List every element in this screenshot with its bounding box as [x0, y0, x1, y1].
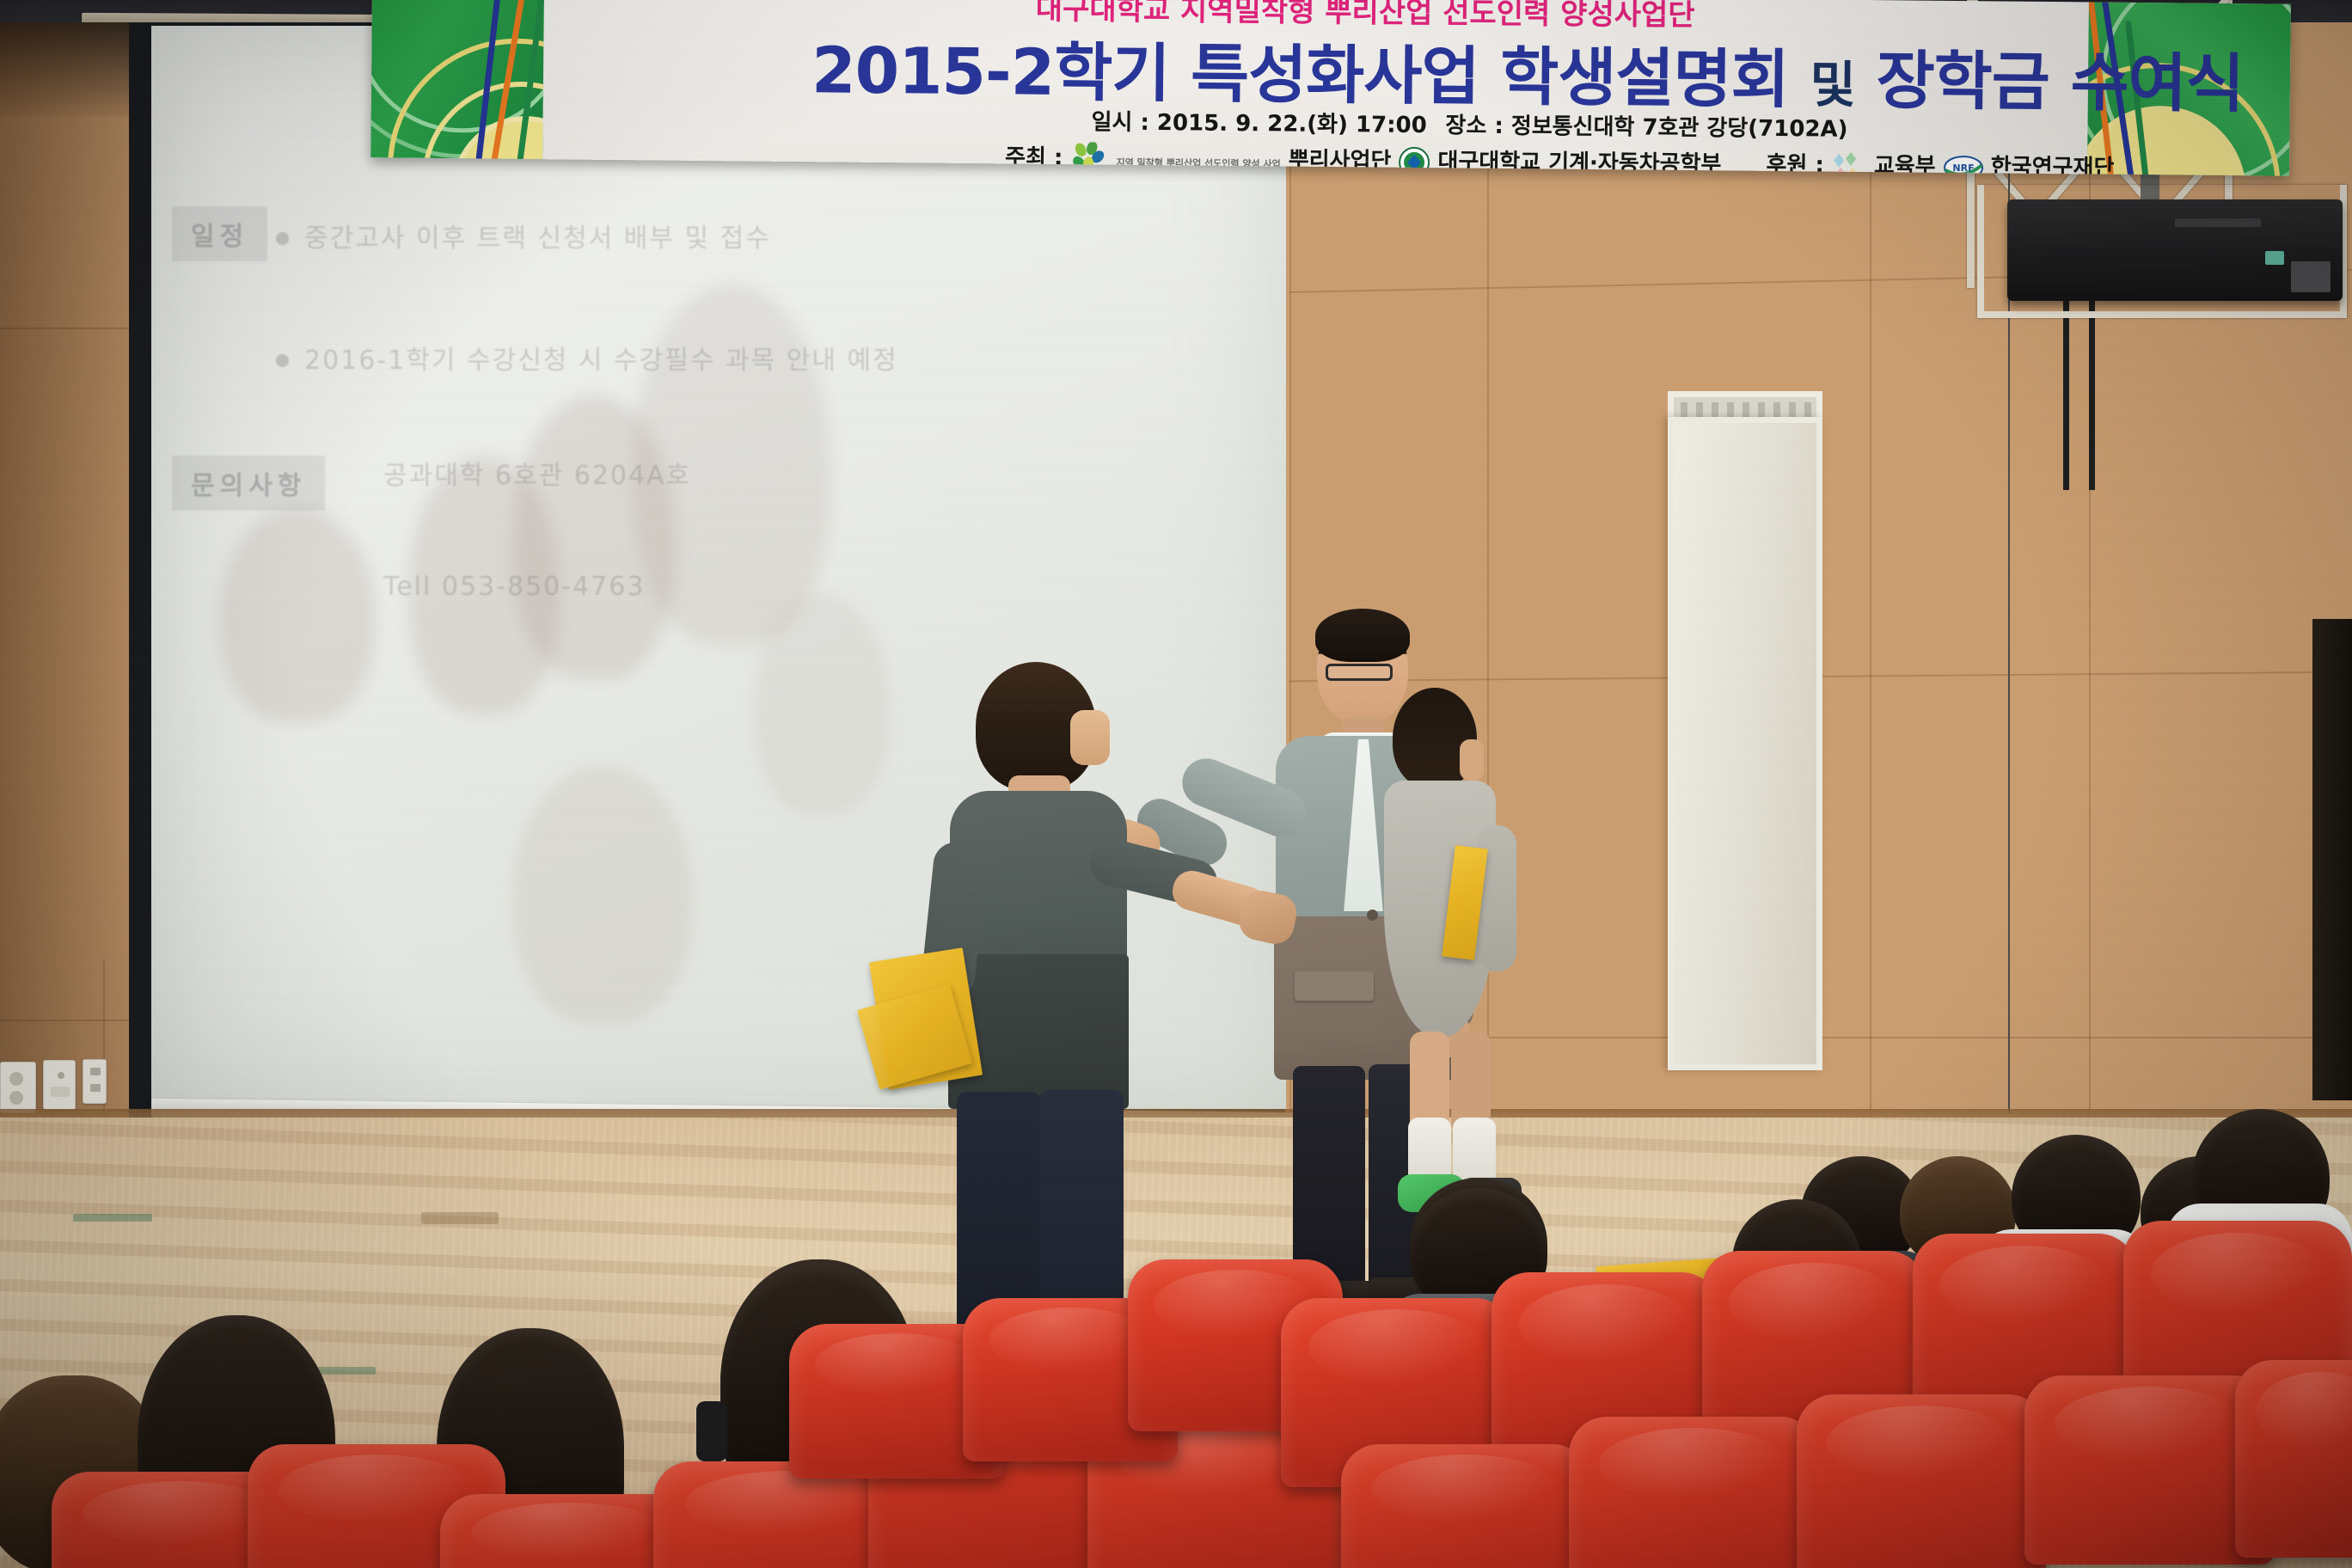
side-door[interactable]	[1668, 417, 1822, 1070]
nrf-logo-icon: NRF	[1944, 154, 1983, 175]
banner-graphic-left	[371, 0, 544, 159]
glasses-arm-icon	[696, 1401, 727, 1461]
glasses-icon	[1326, 664, 1393, 681]
seat-row4-2[interactable]	[1569, 1417, 1818, 1568]
light-switch[interactable]	[43, 1060, 76, 1110]
slide-section2-line-1: 공과대학 6호관 6204A호	[383, 454, 691, 492]
ceiling-projector	[2007, 199, 2343, 301]
banner-place-value: 정보통신대학 7호관 강당(7102A)	[1511, 113, 1848, 143]
banner-place-label: 장소 :	[1445, 113, 1504, 139]
banner-date-value: 2015. 9. 22.(화) 17:00	[1157, 110, 1427, 138]
seat-row4-5[interactable]	[2235, 1360, 2352, 1558]
student-figure	[941, 662, 1165, 1298]
seat-row4-1[interactable]	[1341, 1444, 1590, 1568]
banner-datetime: 일시 : 2015. 9. 22.(화) 17:00	[1091, 104, 1427, 139]
banner-title-part2: 장학금 수여식	[1876, 44, 2244, 121]
right-dark-recess	[2312, 619, 2352, 1100]
auditorium-photo-scene: 일정 중간고사 이후 트랙 신청서 배부 및 접수 2016-1학기 수강신청 …	[0, 0, 2352, 1568]
event-banner: 대구대학교 지역밀착형 뿌리산업 선도인력 양성사업단 2015-2학기 특성화…	[371, 0, 2291, 176]
banner-date-label: 일시 :	[1091, 109, 1149, 136]
banner-title-part1: 2015-2학기 특성화사업 학생설명회	[812, 34, 1789, 117]
banner-title-and: 및	[1810, 55, 1855, 113]
power-outlet-1[interactable]	[0, 1062, 36, 1113]
banner-sponsor-org2: 한국연구재단	[1991, 154, 2115, 175]
seat-row4-3[interactable]	[1797, 1394, 2046, 1568]
slide-section1-bullet-1: 중간고사 이후 트랙 신청서 배부 및 접수	[304, 217, 771, 254]
assistant-figure	[1375, 688, 1522, 1238]
slide-section1-bullet-2: 2016-1학기 수강신청 시 수강필수 과목 안내 예정	[304, 339, 898, 377]
slide-section2-tag: 문의사항	[172, 456, 325, 511]
slide-section1-tag: 일정	[172, 206, 267, 261]
data-jack-plate[interactable]	[83, 1059, 107, 1104]
svg-text:NRF: NRF	[1952, 162, 1974, 173]
slide-section2-line-2: Tell 053-850-4763	[383, 572, 645, 602]
banner-place: 장소 : 정보통신대학 7호관 강당(7102A)	[1445, 107, 1847, 143]
